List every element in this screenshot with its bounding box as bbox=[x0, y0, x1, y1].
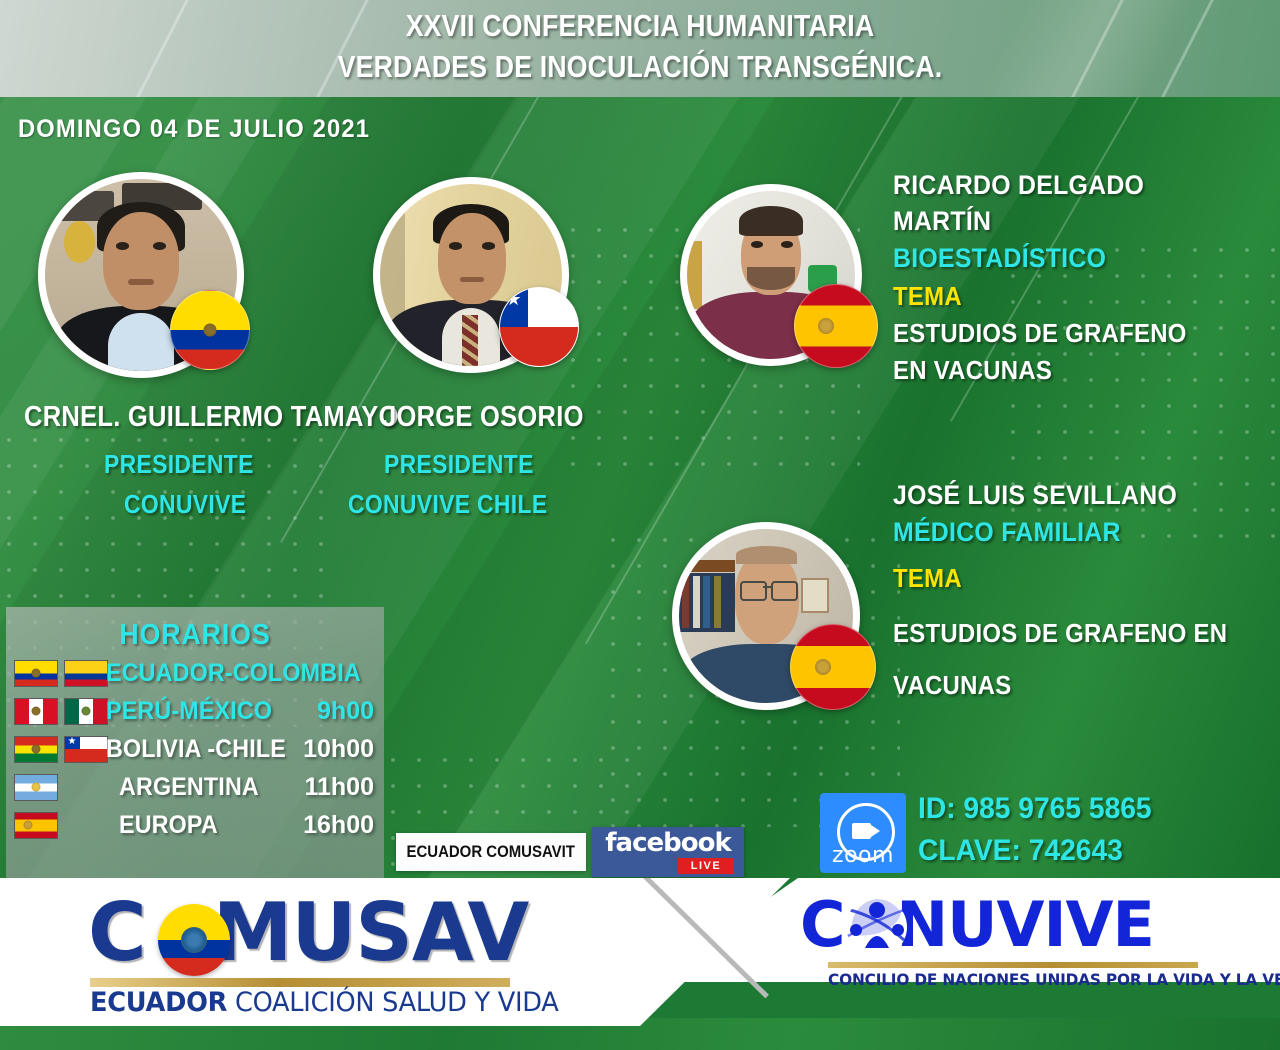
schedule-row-flags bbox=[6, 774, 106, 801]
comusav-logo: COMUSAV ECUADOR COALICIÓN SALUD Y VIDA bbox=[88, 890, 558, 1016]
peru-flag-icon bbox=[14, 698, 58, 725]
schedule-row: ECUADOR-COLOMBIA bbox=[6, 656, 384, 690]
facebook-live-badge[interactable]: facebook LIVE bbox=[592, 827, 744, 877]
speaker-role-tamayo-line1: PRESIDENTE bbox=[104, 448, 254, 481]
page-name-label: ECUADOR COMUSAVIT bbox=[407, 842, 575, 862]
schedule-row-flags: ★ bbox=[6, 736, 106, 763]
chile-flag-icon: ★ bbox=[64, 736, 108, 763]
schedule-row-label: ARGENTINA bbox=[106, 773, 259, 802]
speaker-profession-delgado: BIOESTADÍSTICO bbox=[893, 239, 1187, 277]
conference-title-line1: XXVII CONFERENCIA HUMANITARIA bbox=[90, 6, 1191, 46]
schedule-row: ★ BOLIVIA -CHILE 10h00 bbox=[6, 732, 384, 766]
speaker-name-delgado-line2: MARTÍN bbox=[893, 203, 1187, 239]
schedule-row-label: PERÚ-MÉXICO bbox=[106, 697, 272, 726]
conuvive-word-prefix: C bbox=[800, 888, 845, 961]
speaker-name-tamayo: CRNEL. GUILLERMO TAMAYO bbox=[24, 400, 399, 434]
schedule-row-label: BOLIVIA -CHILE bbox=[106, 735, 286, 764]
conuvive-gold-bar bbox=[828, 962, 1198, 968]
comusav-gold-bar bbox=[90, 978, 510, 987]
conuvive-tagline: CONCILIO DE NACIONES UNIDAS POR LA VIDA … bbox=[828, 970, 1212, 989]
people-globe-icon bbox=[846, 896, 908, 958]
schedule-title: HORARIOS bbox=[21, 607, 369, 652]
schedule-row-flags bbox=[6, 698, 106, 725]
conference-title-line2: VERDADES DE INOCULACIÓN TRANSGÉNICA. bbox=[90, 46, 1191, 88]
event-date: DOMINGO 04 DE JULIO 2021 bbox=[18, 115, 370, 144]
schedule-row-time: 10h00 bbox=[303, 735, 374, 764]
zoom-logo[interactable]: zoom bbox=[820, 793, 906, 873]
conuvive-word-suffix: NUVIVE bbox=[896, 888, 1154, 961]
speaker-photo-sevillano bbox=[672, 522, 872, 722]
zoom-passcode: CLAVE: 742643 bbox=[918, 830, 1152, 872]
schedule-row-time: 16h00 bbox=[303, 811, 374, 840]
schedule-row-time: 9h00 bbox=[317, 697, 374, 726]
schedule-row: EUROPA 16h00 bbox=[6, 808, 384, 842]
facebook-live-label: LIVE bbox=[678, 858, 734, 874]
argentina-flag-icon bbox=[14, 774, 58, 801]
ecuador-flag-icon bbox=[14, 660, 58, 687]
spain-flag-badge bbox=[794, 284, 878, 368]
comusav-tagline: ECUADOR COALICIÓN SALUD Y VIDA bbox=[90, 987, 537, 1018]
flag-spacer bbox=[64, 812, 106, 837]
speaker-photo-tamayo bbox=[38, 172, 268, 402]
schedule-row-label: ECUADOR-COLOMBIA bbox=[106, 659, 361, 688]
speaker-photo-delgado bbox=[680, 184, 880, 384]
schedule-panel: HORARIOS ECUADOR-COLOMBIA PERÚ-MÉXICO 9h… bbox=[6, 607, 384, 879]
chile-flag-badge: ★ bbox=[499, 287, 579, 367]
comusav-tagline-rest: COALICIÓN SALUD Y VIDA bbox=[227, 987, 558, 1018]
speaker-profession-sevillano: MÉDICO FAMILIAR bbox=[893, 513, 1227, 551]
tema-label-sevillano: TEMA bbox=[893, 551, 1227, 605]
speaker-topic-delgado-line1: ESTUDIOS DE GRAFENO bbox=[893, 315, 1187, 352]
zoom-brand-label: zoom bbox=[820, 843, 906, 868]
page-name-badge[interactable]: ECUADOR COMUSAVIT bbox=[396, 833, 586, 871]
footer: COMUSAV ECUADOR COALICIÓN SALUD Y VIDA C… bbox=[0, 878, 1280, 1050]
zoom-credentials: ID: 985 9765 5865 CLAVE: 742643 bbox=[918, 788, 1167, 872]
speaker-photo-osorio: ★ bbox=[373, 177, 588, 392]
spain-flag-icon bbox=[14, 812, 58, 839]
conference-poster: XXVII CONFERENCIA HUMANITARIA VERDADES D… bbox=[0, 0, 1280, 1050]
comusav-word-suffix: MUSAV bbox=[213, 886, 529, 979]
schedule-row: PERÚ-MÉXICO 9h00 bbox=[6, 694, 384, 728]
speaker-topic-sevillano-line2: VACUNAS bbox=[893, 661, 1227, 709]
mexico-flag-icon bbox=[64, 698, 108, 725]
spain-flag-badge bbox=[790, 624, 876, 710]
tema-label-delgado: TEMA bbox=[893, 277, 1187, 315]
schedule-row-time: 11h00 bbox=[304, 773, 374, 802]
comusav-tagline-bold: ECUADOR bbox=[90, 987, 227, 1018]
speaker-name-delgado-line1: RICARDO DELGADO bbox=[893, 167, 1187, 203]
speaker-name-osorio: JORGE OSORIO bbox=[382, 400, 584, 434]
schedule-row-flags bbox=[6, 812, 106, 839]
speaker-info-delgado: RICARDO DELGADO MARTÍN BIOESTADÍSTICO TE… bbox=[893, 167, 1187, 389]
schedule-row-label: EUROPA bbox=[106, 811, 218, 840]
colombia-flag-icon bbox=[64, 660, 108, 687]
facebook-logo-text: facebook bbox=[592, 828, 744, 858]
speaker-role-tamayo-line2: CONUVIVE bbox=[124, 488, 246, 521]
zoom-meeting-id: ID: 985 9765 5865 bbox=[918, 788, 1152, 830]
speaker-name-sevillano: JOSÉ LUIS SEVILLANO bbox=[893, 477, 1227, 513]
title-block: XXVII CONFERENCIA HUMANITARIA VERDADES D… bbox=[0, 6, 1280, 88]
comusav-word-prefix: C bbox=[88, 886, 146, 979]
ecuador-flag-badge bbox=[170, 290, 250, 370]
ecuador-flag-roundel-icon bbox=[158, 904, 230, 976]
speaker-role-osorio-line2: CONUVIVE CHILE bbox=[348, 488, 547, 521]
schedule-row: ARGENTINA 11h00 bbox=[6, 770, 384, 804]
speaker-topic-sevillano-line1: ESTUDIOS DE GRAFENO EN bbox=[893, 605, 1227, 661]
speaker-info-sevillano: JOSÉ LUIS SEVILLANO MÉDICO FAMILIAR TEMA… bbox=[893, 477, 1227, 709]
conuvive-logo: CONUVIVE CONCILIO DE NACIONES UNIDAS POR… bbox=[800, 892, 1220, 992]
schedule-row-flags bbox=[6, 660, 106, 687]
speaker-topic-delgado-line2: EN VACUNAS bbox=[893, 352, 1187, 389]
bolivia-flag-icon bbox=[14, 736, 58, 763]
flag-spacer bbox=[64, 774, 106, 799]
speaker-role-osorio-line1: PRESIDENTE bbox=[384, 448, 534, 481]
